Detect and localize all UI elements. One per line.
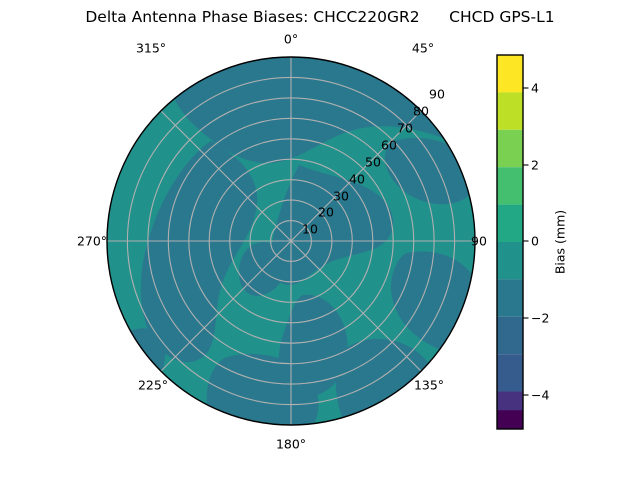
colorbar-tick-label-neg2: −2: [531, 311, 549, 326]
colorbar-tick-label-neg4: −4: [531, 388, 549, 403]
colorbar-ticks: [523, 88, 529, 395]
colorbar-tick-label-4: 4: [531, 81, 539, 96]
colorbar-tick-label-0: 0: [531, 234, 539, 249]
r-tick-80: 80: [413, 104, 429, 119]
polar-skyplot: 0° 45° 90 135° 180° 225° 270° 315° 10 20…: [107, 57, 475, 425]
colorbar-tick-label-2: 2: [531, 158, 539, 173]
r-tick-30: 30: [333, 189, 349, 204]
figure-title: Delta Antenna Phase Biases: CHCC220GR2 C…: [0, 8, 640, 26]
theta-tick-270: 270°: [77, 234, 107, 249]
r-tick-40: 40: [349, 172, 365, 187]
colorbar-svg: [497, 55, 523, 429]
r-tick-10: 10: [302, 222, 318, 237]
r-tick-60: 60: [381, 138, 397, 153]
r-tick-70: 70: [397, 121, 413, 136]
r-tick-50: 50: [365, 155, 381, 170]
colorbar-axis-label: Bias (mm): [553, 210, 568, 274]
r-tick-90: 90: [429, 87, 445, 102]
colorbar-bands: [497, 55, 523, 429]
theta-tick-90: 90: [471, 234, 487, 249]
r-tick-20: 20: [318, 205, 334, 220]
theta-tick-180: 180°: [276, 437, 306, 452]
bias-colorbar: 4 2 0 −2 −4: [497, 55, 523, 429]
figure-canvas: Delta Antenna Phase Biases: CHCC220GR2 C…: [0, 0, 640, 480]
theta-tick-0: 0°: [284, 32, 298, 47]
theta-tick-225: 225°: [138, 378, 168, 393]
theta-tick-135: 135°: [414, 378, 444, 393]
theta-tick-45: 45°: [412, 41, 434, 56]
theta-tick-315: 315°: [136, 41, 166, 56]
